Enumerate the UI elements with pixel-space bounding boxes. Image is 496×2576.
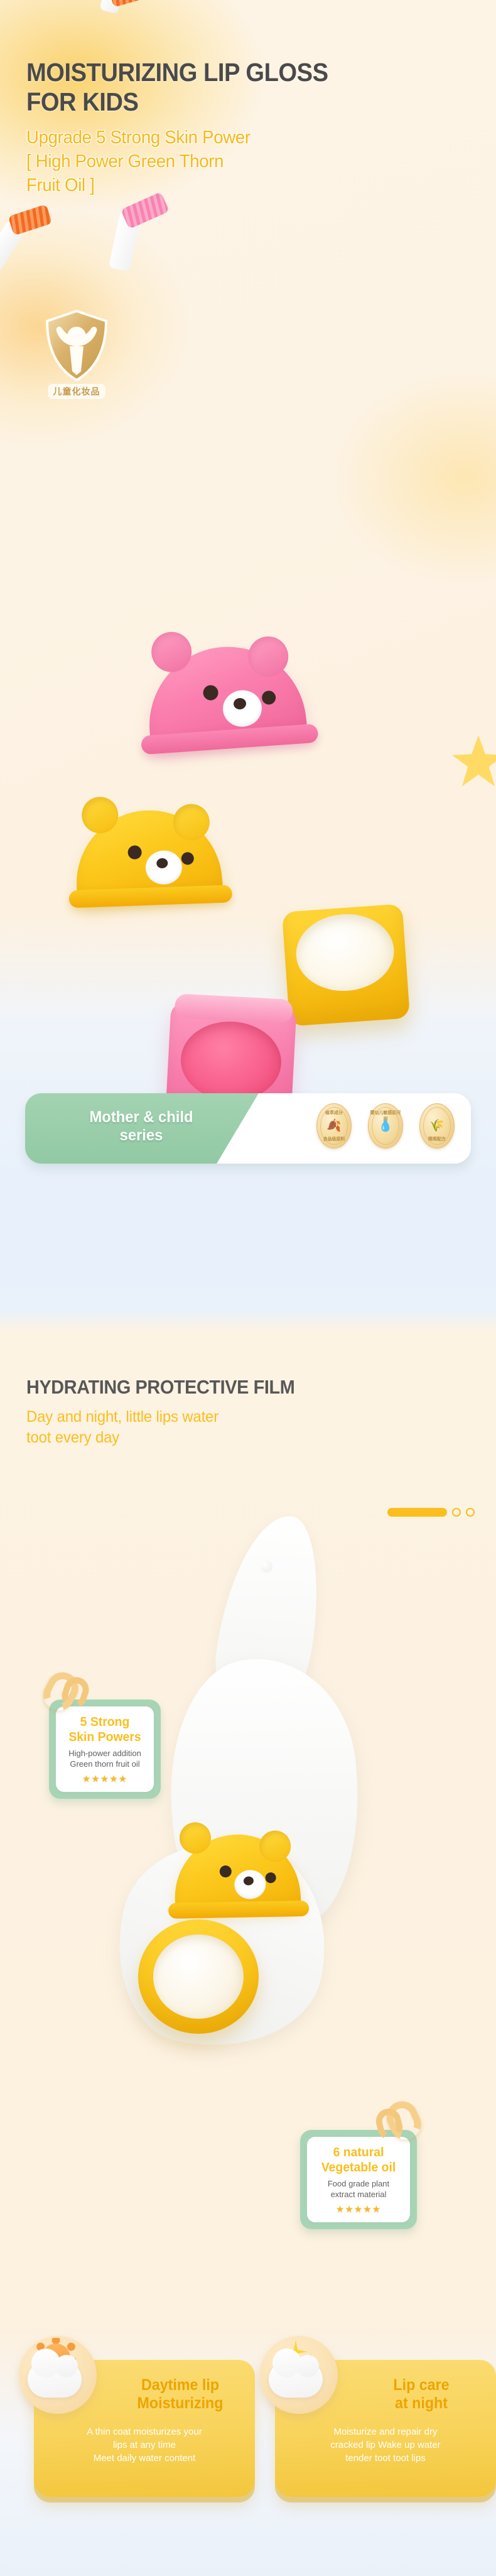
night-title-line2: at night xyxy=(360,2394,482,2413)
section2-jar-balm-surface xyxy=(153,1935,244,2019)
sun-cloud-icon xyxy=(19,2336,97,2414)
water-drop-seal-icon: 💧 xyxy=(378,1120,393,1132)
section2-subtitle-line2: toot every day xyxy=(26,1427,448,1448)
kids-cosmetics-badge: 儿童化妆品 xyxy=(36,306,117,400)
yellow-bear-cap-product xyxy=(70,804,223,905)
feature-card-night: Lip care at night Moisturize and repair … xyxy=(275,2360,496,2497)
tag2-desc-line2: extract material xyxy=(315,2189,402,2200)
pagination-dot-3[interactable] xyxy=(466,1508,475,1517)
tag2-title-line1: 6 natural xyxy=(316,2145,401,2160)
night-cloud-shape xyxy=(269,2361,323,2398)
tag2-desc-line1: Food grade plant xyxy=(315,2178,402,2189)
pink-bear-left-eye xyxy=(202,684,219,701)
banner-title-line2: series xyxy=(46,1127,236,1145)
cloud-shape xyxy=(28,2361,82,2398)
tag2-content: 6 natural Vegetable oil Food grade plant… xyxy=(307,2137,410,2222)
seal-1-top-label: 植萃成分 xyxy=(317,1110,351,1116)
tag1-desc-line2: Green thorn fruit oil xyxy=(63,1759,146,1769)
daytime-desc-line1: A thin coat moisturizes your xyxy=(43,2425,246,2438)
pagination-active-bar[interactable] xyxy=(387,1508,447,1517)
pink-cap-brim xyxy=(141,724,318,755)
tag2-title-line2: Vegetable oil xyxy=(316,2160,401,2175)
feature-tag-5-strong-skin-powers: 5 Strong Skin Powers High-power addition… xyxy=(49,1700,161,1799)
seal-2-top-label: 婴幼儿敏感肌可用 xyxy=(369,1110,402,1122)
section2-subtitle-line1: Day and night, little lips water xyxy=(26,1407,448,1427)
pink-jar-balm-surface xyxy=(179,1019,283,1103)
pink-bear-right-eye xyxy=(261,690,277,706)
seal-wheat-badge: 🌾 精简配方 xyxy=(419,1103,455,1149)
daytime-card-title: Daytime lip Moisturizing xyxy=(119,2376,241,2413)
daytime-card-description: A thin coat moisturizes your lips at any… xyxy=(43,2425,246,2465)
feature-tag-6-natural-vegetable-oil: 6 natural Vegetable oil Food grade plant… xyxy=(300,2130,417,2229)
pink-balm-swirl xyxy=(121,192,170,229)
daytime-title-line1: Daytime lip xyxy=(119,2376,241,2394)
seal-leaf-badge: 植萃成分 🍂 食品级原料 xyxy=(316,1103,352,1149)
open-yellow-jar-product xyxy=(282,904,410,1027)
seal-water-badge: 婴幼儿敏感肌可用 💧 xyxy=(368,1103,403,1149)
feature-card-daytime: Daytime lip Moisturizing A thin coat moi… xyxy=(34,2360,255,2497)
night-title-line1: Lip care xyxy=(360,2376,482,2394)
hero-subtitle-line2: [ High Power Green Thorn xyxy=(26,150,444,173)
daytime-desc-line2: lips at any time xyxy=(43,2438,246,2452)
certification-seal-group: 植萃成分 🍂 食品级原料 婴幼儿敏感肌可用 💧 🌾 精简配方 xyxy=(316,1103,455,1149)
banner-title-line1: Mother & child xyxy=(46,1108,236,1127)
hero-headline-line2: FOR KIDS xyxy=(26,87,435,117)
section2-cap-brim xyxy=(168,1901,309,1919)
yellow-balm-swirl xyxy=(8,204,53,236)
tag1-desc-line1: High-power addition xyxy=(63,1748,146,1759)
section2-bear-left-eye xyxy=(219,1865,232,1878)
hero-subtitle-line1: Upgrade 5 Strong Skin Power xyxy=(26,126,444,150)
yellow-bear-right-eye xyxy=(181,852,195,866)
tag-content: 5 Strong Skin Powers High-power addition… xyxy=(56,1706,154,1792)
leaf-seal-icon: 🍂 xyxy=(326,1120,342,1132)
section2-open-jar xyxy=(138,1919,259,2034)
section2-bear-right-eye xyxy=(265,1872,276,1884)
section2-headline: HYDRATING PROTECTIVE FILM xyxy=(26,1376,435,1399)
tag2-green-frame: 6 natural Vegetable oil Food grade plant… xyxy=(300,2130,417,2229)
seal-1-bottom-label: 食品级原料 xyxy=(317,1136,351,1142)
pagination-dot-2[interactable] xyxy=(452,1508,461,1517)
section2-yellow-bear-cap xyxy=(171,1830,301,1916)
wheat-seal-icon: 🌾 xyxy=(429,1120,445,1132)
night-card-title: Lip care at night xyxy=(360,2376,482,2413)
hero-heading-block: MOISTURIZING LIP GLOSS FOR KIDS Upgrade … xyxy=(26,58,466,197)
night-card-description: Moisturize and repair dry cracked lip Wa… xyxy=(284,2425,487,2465)
sparkle-cloud-icon xyxy=(260,2336,338,2414)
daytime-title-line2: Moisturizing xyxy=(119,2394,241,2413)
yellow-bear-left-eye xyxy=(127,845,143,860)
mother-child-series-banner: Mother & child series 植萃成分 🍂 食品级原料 婴幼儿敏感… xyxy=(25,1093,471,1164)
star-decoration-icon xyxy=(452,735,496,788)
yellow-jar-balm-surface xyxy=(294,911,397,995)
banner-title: Mother & child series xyxy=(46,1108,236,1145)
night-desc-line2: cracked lip Wake up water xyxy=(284,2438,487,2452)
tag1-title-line2: Skin Powers xyxy=(65,1730,145,1745)
daytime-desc-line3: Meet daily water content xyxy=(43,2452,246,2465)
pink-bear-cap-product xyxy=(141,638,308,750)
tag2-star-rating: ★★★★★ xyxy=(315,2203,402,2215)
hero-headline-line1: MOISTURIZING LIP GLOSS xyxy=(26,58,435,87)
carousel-pagination[interactable] xyxy=(387,1508,475,1517)
shield-child-icon xyxy=(36,306,117,386)
night-desc-line3: tender toot toot lips xyxy=(284,2452,487,2465)
yellow-cap-brim xyxy=(68,885,232,908)
milk-droplet xyxy=(261,1561,272,1573)
hero-subtitle-line3: Fruit Oil ] xyxy=(26,173,444,197)
tag1-star-rating: ★★★★★ xyxy=(63,1773,146,1784)
badge-label-cn: 儿童化妆品 xyxy=(48,384,105,399)
tag1-title-line1: 5 Strong xyxy=(65,1715,145,1730)
hero-section: MOISTURIZING LIP GLOSS FOR KIDS Upgrade … xyxy=(0,0,496,1197)
seal-3-bottom-label: 精简配方 xyxy=(420,1136,454,1142)
night-desc-line1: Moisturize and repair dry xyxy=(284,2425,487,2438)
tag-green-frame: 5 Strong Skin Powers High-power addition… xyxy=(49,1700,161,1799)
section2-heading-block: HYDRATING PROTECTIVE FILM Day and night,… xyxy=(26,1376,466,1448)
